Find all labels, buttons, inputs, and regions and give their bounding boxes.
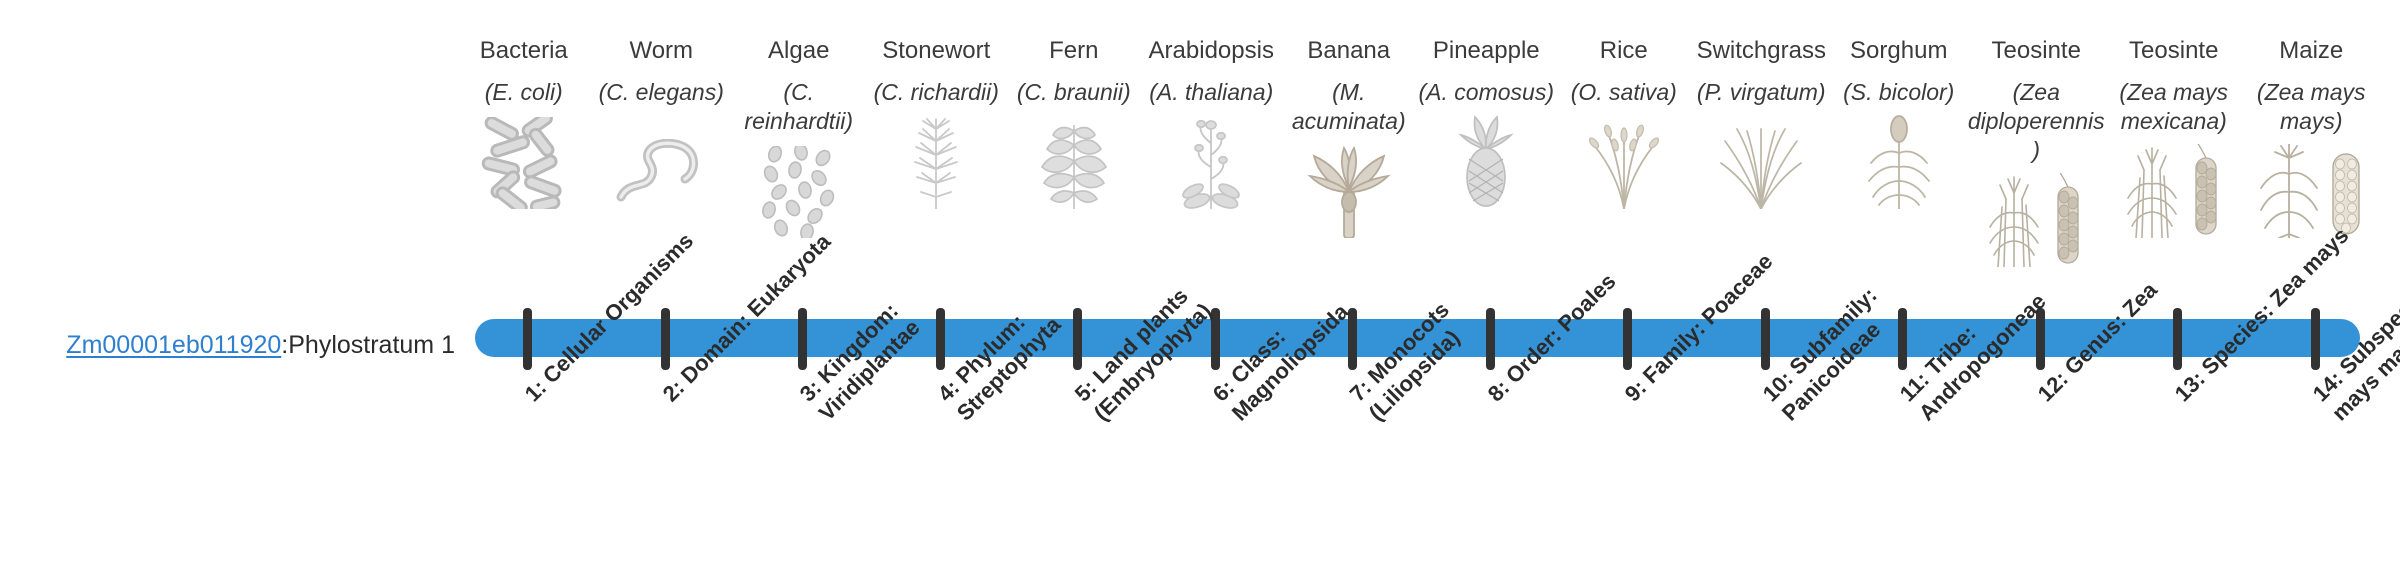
species-common-name: Rice	[1555, 36, 1693, 66]
phylostratum-value: Phylostratum 1	[288, 331, 455, 360]
stonewort-icon	[868, 113, 1006, 209]
species-common-name: Stonewort	[868, 36, 1006, 66]
gene-id-link[interactable]: Zm00001eb011920	[66, 331, 281, 360]
species-scientific-name: (Zea mays mexicana)	[2105, 78, 2243, 136]
species-column: Maize(Zea mays mays)	[2243, 36, 2381, 238]
phylostratum-tick[interactable]	[1761, 308, 1770, 370]
species-column: Switchgrass(P. virgatum)	[1693, 36, 1831, 209]
gene-label-separator: :	[281, 331, 288, 360]
species-scientific-name: (E. coli)	[455, 78, 593, 107]
species-common-name: Arabidopsis	[1143, 36, 1281, 66]
phylostratigraphy-figure: Zm00001eb011920: Phylostratum 1 Bacteria…	[0, 0, 2400, 580]
species-common-name: Maize	[2243, 36, 2381, 66]
species-common-name: Teosinte	[1968, 36, 2106, 66]
switchgrass-icon	[1693, 113, 1831, 209]
species-scientific-name: (M. acuminata)	[1280, 78, 1418, 136]
species-common-name: Bacteria	[455, 36, 593, 66]
species-scientific-name: (C. elegans)	[593, 78, 731, 107]
species-scientific-name: (C. reinhardtii)	[730, 78, 868, 136]
species-column: Teosinte(Zea mays mexicana)	[2105, 36, 2243, 238]
pineapple-icon	[1418, 113, 1556, 209]
species-scientific-name: (A. comosus)	[1418, 78, 1556, 107]
species-scientific-name: (A. thaliana)	[1143, 78, 1281, 107]
species-column: Algae(C. reinhardtii)	[730, 36, 868, 238]
nematode-worm-icon	[593, 113, 731, 209]
species-column: Rice(O. sativa)	[1555, 36, 1693, 209]
species-column: Arabidopsis(A. thaliana)	[1143, 36, 1281, 209]
species-column: Bacteria(E. coli)	[455, 36, 593, 209]
species-scientific-name: (O. sativa)	[1555, 78, 1693, 107]
species-column: Stonewort(C. richardii)	[868, 36, 1006, 209]
fern-frond-icon	[1005, 113, 1143, 209]
species-common-name: Pineapple	[1418, 36, 1556, 66]
maize-plant-ear-icon	[2243, 142, 2381, 238]
species-common-name: Banana	[1280, 36, 1418, 66]
phylostratum-tick[interactable]	[2311, 308, 2320, 370]
phylostratum-tick[interactable]	[661, 308, 670, 370]
species-common-name: Switchgrass	[1693, 36, 1831, 66]
species-column: Fern(C. braunii)	[1005, 36, 1143, 209]
species-scientific-name: (P. virgatum)	[1693, 78, 1831, 107]
phylostratum-tick[interactable]	[1623, 308, 1632, 370]
species-scientific-name: (Zea diploperennis)	[1968, 78, 2106, 165]
species-scientific-name: (S. bicolor)	[1830, 78, 1968, 107]
phylostratum-tick[interactable]	[523, 308, 532, 370]
species-common-name: Worm	[593, 36, 731, 66]
species-common-name: Fern	[1005, 36, 1143, 66]
arabidopsis-icon	[1143, 113, 1281, 209]
species-column: Banana(M. acuminata)	[1280, 36, 1418, 238]
species-column: Pineapple(A. comosus)	[1418, 36, 1556, 209]
species-column: Worm(C. elegans)	[593, 36, 731, 209]
species-common-name: Algae	[730, 36, 868, 66]
gene-phylostratum-label: Zm00001eb011920: Phylostratum 1	[0, 325, 455, 365]
bacteria-rods-icon	[455, 113, 593, 209]
species-common-name: Sorghum	[1830, 36, 1968, 66]
rice-plant-icon	[1555, 113, 1693, 209]
sorghum-icon	[1830, 113, 1968, 209]
species-scientific-name: (C. braunii)	[1005, 78, 1143, 107]
species-scientific-name: (C. richardii)	[868, 78, 1006, 107]
phylostratum-tick[interactable]	[2173, 308, 2182, 370]
species-common-name: Teosinte	[2105, 36, 2243, 66]
species-scientific-name: (Zea mays mays)	[2243, 78, 2381, 136]
species-column: Sorghum(S. bicolor)	[1830, 36, 1968, 209]
phylostratum-tick[interactable]	[798, 308, 807, 370]
taxonomy-rank-row: 1: Cellular Organisms2: Domain: Eukaryot…	[455, 388, 2400, 580]
